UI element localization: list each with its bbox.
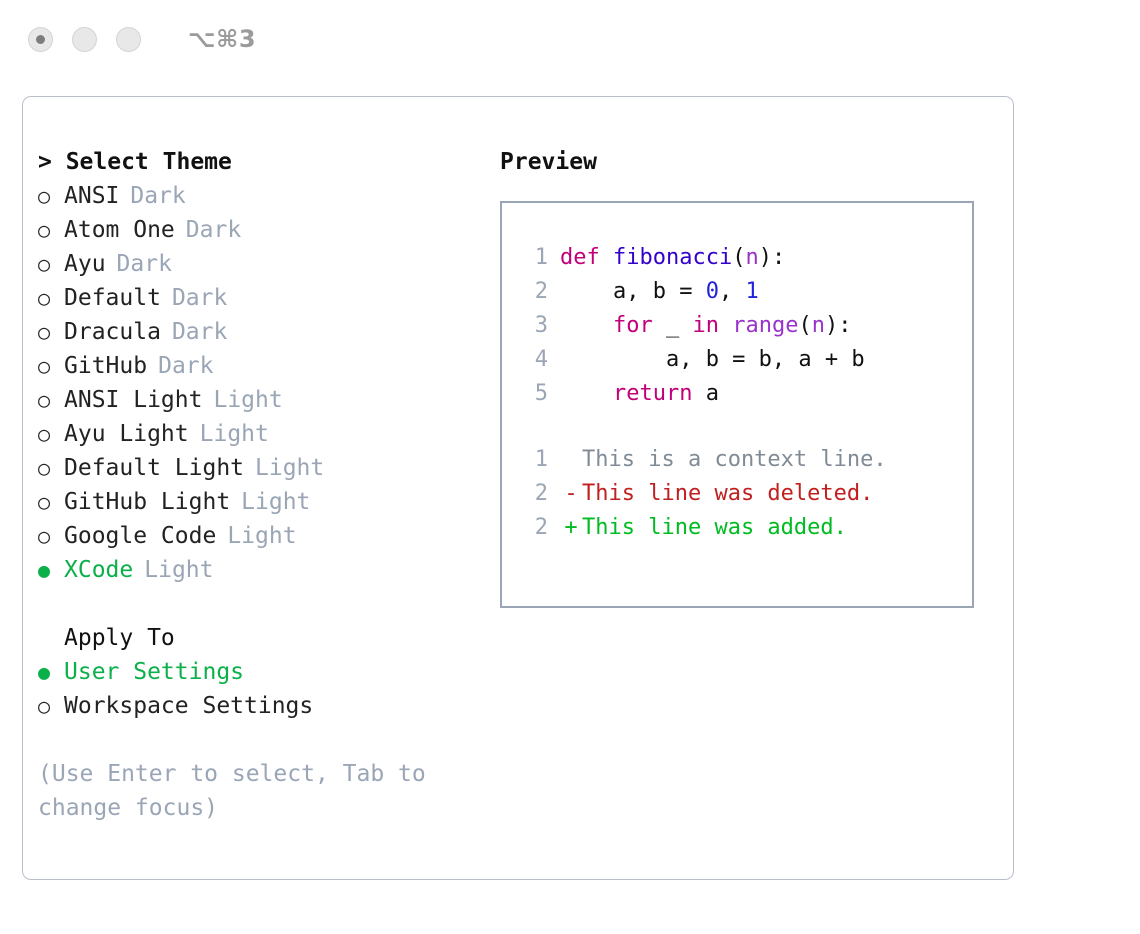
theme-option-kind: Light — [241, 485, 310, 519]
theme-option-kind: Light — [144, 553, 213, 587]
diff-line-text: This line was added. — [582, 511, 847, 545]
code-line-number: 1 — [518, 241, 548, 275]
radio-unselected-icon: ○ — [38, 213, 64, 247]
preview-box: 1def fibonacci(n):2 a, b = 0, 13 for _ i… — [500, 201, 974, 608]
code-line: 5 return a — [518, 377, 972, 411]
theme-option-kind: Light — [227, 519, 296, 553]
apply-to-option-user-settings[interactable]: ●User Settings — [38, 655, 488, 689]
code-sample-block: 1def fibonacci(n):2 a, b = 0, 13 for _ i… — [518, 241, 972, 411]
code-token: , — [719, 279, 746, 304]
diff-marker — [560, 443, 582, 477]
radio-unselected-icon: ○ — [38, 485, 64, 519]
theme-option-kind: Dark — [186, 213, 241, 247]
preview-header: Preview — [500, 145, 974, 179]
theme-option-label: Default — [64, 281, 161, 315]
code-line: 2 a, b = 0, 1 — [518, 275, 972, 309]
theme-option-default-light[interactable]: ○Default LightLight — [38, 451, 488, 485]
code-line-text: a, b = b, a + b — [560, 343, 865, 377]
window-controls — [28, 27, 141, 52]
theme-option-list[interactable]: ○ANSIDark○Atom OneDark○AyuDark○DefaultDa… — [38, 179, 488, 587]
radio-unselected-icon: ○ — [38, 179, 64, 213]
diff-line: 1 This is a context line. — [518, 443, 972, 477]
code-line-text: a, b = 0, 1 — [560, 275, 759, 309]
code-token — [560, 313, 613, 338]
code-token: return — [613, 381, 692, 406]
diff-line-number: 2 — [518, 511, 548, 545]
code-line-number: 4 — [518, 343, 548, 377]
theme-option-label: Ayu Light — [64, 417, 189, 451]
code-token: n — [745, 245, 758, 270]
theme-option-label: GitHub — [64, 349, 147, 383]
code-line-text: return a — [560, 377, 719, 411]
theme-option-kind: Dark — [130, 179, 185, 213]
code-token: ): — [759, 245, 786, 270]
apply-to-option-label: User Settings — [64, 655, 244, 689]
diff-line: 2+This line was added. — [518, 511, 972, 545]
theme-picker-column: > Select Theme ○ANSIDark○Atom OneDark○Ay… — [38, 145, 488, 825]
radio-unselected-icon: ○ — [38, 383, 64, 417]
theme-option-kind: Dark — [117, 247, 172, 281]
window-dot-third-icon[interactable] — [116, 27, 141, 52]
radio-unselected-icon: ○ — [38, 519, 64, 553]
code-token: n — [812, 313, 825, 338]
theme-option-kind: Light — [200, 417, 269, 451]
theme-option-google-code[interactable]: ○Google CodeLight — [38, 519, 488, 553]
code-token: a, b = — [560, 279, 706, 304]
apply-to-option-label: Workspace Settings — [64, 689, 313, 723]
theme-option-label: GitHub Light — [64, 485, 230, 519]
radio-unselected-icon: ○ — [38, 451, 64, 485]
code-token: def — [560, 245, 613, 270]
keyboard-shortcut-label: ⌥⌘3 — [188, 25, 256, 53]
app-window: ⌥⌘3 > Select Theme ○ANSIDark○Atom OneDar… — [0, 0, 1140, 934]
apply-to-option-list[interactable]: ●User Settings○Workspace Settings — [38, 655, 488, 723]
code-line-number: 2 — [518, 275, 548, 309]
theme-option-label: Ayu — [64, 247, 106, 281]
diff-line-number: 2 — [518, 477, 548, 511]
hint-gap — [38, 723, 488, 757]
apply-to-header: Apply To — [38, 621, 488, 655]
code-token: 0 — [706, 279, 719, 304]
diff-sample-block: 1 This is a context line.2-This line was… — [518, 443, 972, 545]
diff-marker: + — [560, 511, 582, 545]
theme-option-xcode[interactable]: ●XCodeLight — [38, 553, 488, 587]
theme-option-label: Default Light — [64, 451, 244, 485]
preview-column: Preview 1def fibonacci(n):2 a, b = 0, 13… — [500, 145, 974, 608]
theme-option-ansi-light[interactable]: ○ANSI LightLight — [38, 383, 488, 417]
code-line-number: 5 — [518, 377, 548, 411]
code-token: a, b = b, a + b — [560, 347, 865, 372]
theme-option-label: Google Code — [64, 519, 216, 553]
diff-line-number: 1 — [518, 443, 548, 477]
code-token: ): — [825, 313, 852, 338]
window-titlebar: ⌥⌘3 — [0, 0, 1140, 78]
window-dot-inner — [36, 35, 45, 44]
code-line: 1def fibonacci(n): — [518, 241, 972, 275]
radio-unselected-icon: ○ — [38, 281, 64, 315]
theme-option-kind: Dark — [158, 349, 213, 383]
code-token — [560, 381, 613, 406]
main-panel: > Select Theme ○ANSIDark○Atom OneDark○Ay… — [22, 96, 1014, 880]
code-line: 4 a, b = b, a + b — [518, 343, 972, 377]
radio-unselected-icon: ○ — [38, 315, 64, 349]
list-gap — [38, 587, 488, 621]
diff-marker: - — [560, 477, 582, 511]
window-dot-second-icon[interactable] — [72, 27, 97, 52]
code-token: fibonacci — [613, 245, 732, 270]
theme-option-label: Dracula — [64, 315, 161, 349]
code-token: ( — [732, 245, 745, 270]
code-token: a — [692, 381, 719, 406]
radio-unselected-icon: ○ — [38, 349, 64, 383]
theme-option-label: ANSI Light — [64, 383, 202, 417]
diff-line-text: This is a context line. — [582, 443, 887, 477]
code-token: for — [613, 313, 653, 338]
theme-option-kind: Light — [255, 451, 324, 485]
theme-option-label: Atom One — [64, 213, 175, 247]
theme-option-ayu-light[interactable]: ○Ayu LightLight — [38, 417, 488, 451]
code-diff-separator — [518, 411, 972, 443]
diff-line: 2-This line was deleted. — [518, 477, 972, 511]
theme-option-github-light[interactable]: ○GitHub LightLight — [38, 485, 488, 519]
theme-option-ansi[interactable]: ○ANSIDark — [38, 179, 488, 213]
theme-option-kind: Light — [213, 383, 282, 417]
code-line-text: for _ in range(n): — [560, 309, 851, 343]
theme-option-ayu[interactable]: ○AyuDark — [38, 247, 488, 281]
theme-option-default[interactable]: ○DefaultDark — [38, 281, 488, 315]
theme-option-kind: Dark — [172, 315, 227, 349]
apply-to-option-workspace-settings[interactable]: ○Workspace Settings — [38, 689, 488, 723]
diff-line-text: This line was deleted. — [582, 477, 873, 511]
radio-unselected-icon: ○ — [38, 689, 64, 723]
radio-selected-icon: ● — [38, 553, 64, 587]
theme-option-kind: Dark — [172, 281, 227, 315]
code-token — [719, 313, 732, 338]
theme-option-label: ANSI — [64, 179, 119, 213]
theme-option-atom-one[interactable]: ○Atom OneDark — [38, 213, 488, 247]
code-token: in — [692, 313, 719, 338]
radio-unselected-icon: ○ — [38, 417, 64, 451]
code-line: 3 for _ in range(n): — [518, 309, 972, 343]
code-line-text: def fibonacci(n): — [560, 241, 785, 275]
code-token: range — [732, 313, 798, 338]
keyboard-hint-text: (Use Enter to select, Tab to change focu… — [38, 757, 448, 825]
radio-unselected-icon: ○ — [38, 247, 64, 281]
theme-option-label: XCode — [64, 553, 133, 587]
code-line-number: 3 — [518, 309, 548, 343]
code-token: _ — [653, 313, 693, 338]
radio-selected-icon: ● — [38, 655, 64, 689]
theme-option-github[interactable]: ○GitHubDark — [38, 349, 488, 383]
select-theme-header: > Select Theme — [38, 145, 488, 179]
window-dot-active-icon[interactable] — [28, 27, 53, 52]
theme-option-dracula[interactable]: ○DraculaDark — [38, 315, 488, 349]
code-token: ( — [798, 313, 811, 338]
code-token: 1 — [745, 279, 758, 304]
